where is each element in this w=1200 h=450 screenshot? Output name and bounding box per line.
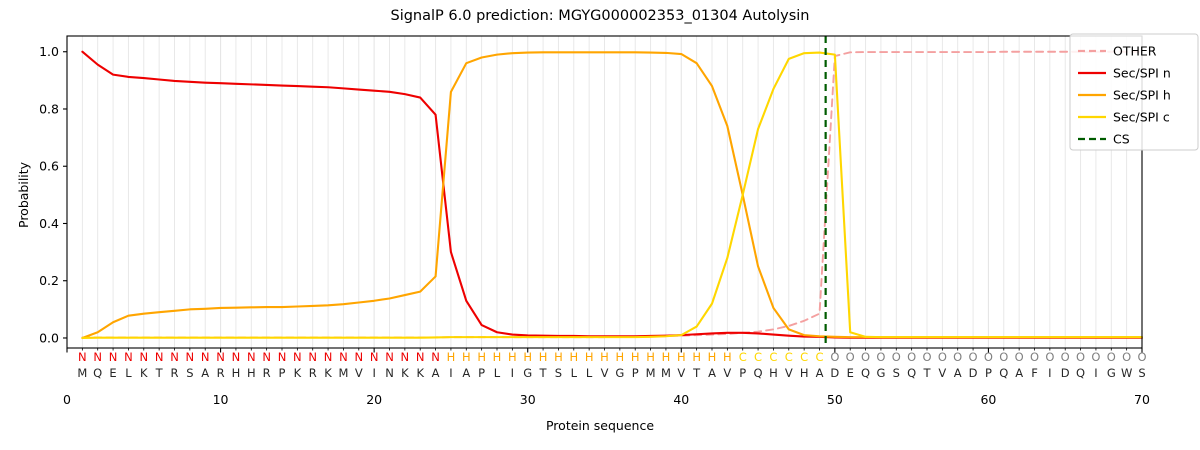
state-letter: N [401,350,410,364]
state-letter: N [354,350,363,364]
state-letter: N [186,350,195,364]
residue-letter: M [661,366,671,380]
series-line-sec-spi-h [82,52,1142,338]
state-letter: H [569,350,578,364]
state-letter: N [232,350,241,364]
state-letter: N [293,350,302,364]
residue-letter: I [1048,366,1051,380]
residue-letter: T [692,366,701,380]
state-letter: O [953,350,962,364]
residue-letter: R [263,366,271,380]
grid-lines [82,36,1142,348]
residue-letter: A [432,366,440,380]
state-letter: O [830,350,839,364]
state-letter: C [800,350,808,364]
state-letter: O [876,350,885,364]
residue-letter: R [171,366,179,380]
state-letter: N [201,350,210,364]
state-letter: N [216,350,225,364]
state-letter: O [846,350,855,364]
state-letter: N [247,350,256,364]
state-letter: H [585,350,594,364]
y-tick-label: 0.6 [39,159,59,174]
residue-letter: E [847,366,854,380]
state-letter: N [139,350,148,364]
residue-letter: D [969,366,978,380]
residue-letter: A [708,366,716,380]
residue-letter: S [893,366,900,380]
state-letter: N [416,350,425,364]
residue-letter: H [232,366,241,380]
residue-letter: R [217,366,225,380]
state-letter: O [1030,350,1039,364]
residue-letter: V [601,366,609,380]
legend-label-sec-spi-n: Sec/SPI n [1113,66,1171,81]
state-letter: N [431,350,440,364]
residue-letter: H [769,366,778,380]
legend-label-cs: CS [1113,132,1130,147]
state-letter: H [447,350,456,364]
residue-letter: A [201,366,209,380]
state-letter: O [1076,350,1085,364]
state-letter: H [677,350,686,364]
signalp-plot-figure: SignalP 6.0 prediction: MGYG000002353_01… [0,0,1200,450]
state-letter: O [1045,350,1054,364]
state-letter: N [278,350,287,364]
series-line-other [82,52,1142,338]
residue-letter: W [1121,366,1132,380]
state-letter: C [785,350,793,364]
x-tick-label: 40 [673,392,689,407]
residue-letter: K [140,366,148,380]
residue-letter: A [462,366,470,380]
state-letter: H [723,350,732,364]
residue-letter: S [186,366,193,380]
residue-letter: Q [1076,366,1085,380]
state-letter: O [1107,350,1116,364]
state-letter: H [600,350,609,364]
y-tick-label: 1.0 [39,44,59,59]
state-letter-row: NNNNNNNNNNNNNNNNNNNNNNNNHHHHHHHHHHHHHHHH… [78,350,1146,364]
series-line-sec-spi-c [82,53,1142,338]
residue-letter: Q [754,366,763,380]
data-series-group [82,52,1142,338]
x-tick-label: 30 [520,392,536,407]
y-tick-label: 0.0 [39,330,59,345]
state-letter: H [539,350,548,364]
state-letter: H [462,350,471,364]
residue-letter: E [109,366,116,380]
state-letter: C [815,350,823,364]
state-letter: H [662,350,671,364]
residue-letter: I [1094,366,1097,380]
residue-letter: G [615,366,624,380]
residue-letter: M [646,366,656,380]
residue-letter: M [338,366,348,380]
state-letter: O [861,350,870,364]
residue-letter: T [539,366,548,380]
residue-letter: S [555,366,562,380]
residue-letter: H [800,366,809,380]
residue-letter: V [355,366,363,380]
state-letter: H [523,350,532,364]
state-letter: H [631,350,640,364]
residue-letter: M [77,366,87,380]
legend-label-other: OTHER [1113,44,1157,59]
state-letter: N [170,350,179,364]
residue-letter: N [385,366,394,380]
legend: OTHERSec/SPI nSec/SPI hSec/SPI cCS [1070,34,1198,150]
state-letter: O [892,350,901,364]
residue-letter: I [511,366,514,380]
residue-letter: Q [93,366,102,380]
state-letter: O [907,350,916,364]
state-letter: H [554,350,563,364]
residue-letter: A [1015,366,1023,380]
state-letter: N [370,350,379,364]
state-letter: H [508,350,517,364]
state-letter: O [1091,350,1100,364]
residue-letter: T [155,366,164,380]
residue-letter: V [938,366,946,380]
residue-letter: D [830,366,839,380]
state-letter: N [339,350,348,364]
residue-letter: G [523,366,532,380]
residue-letter: Q [999,366,1008,380]
residue-letter: K [416,366,424,380]
legend-label-sec-spi-c: Sec/SPI c [1113,110,1170,125]
state-letter: H [646,350,655,364]
state-letter: C [739,350,747,364]
y-tick-label: 0.8 [39,101,59,116]
state-letter: N [124,350,133,364]
state-letter: N [385,350,394,364]
residue-letter: K [324,366,332,380]
state-letter: N [308,350,317,364]
state-letter: N [78,350,87,364]
state-letter: O [1122,350,1131,364]
state-letter: C [769,350,777,364]
y-axis-ticks: 0.00.20.40.60.81.0 [39,44,67,345]
sequence-letter-row: MQELKTRSARHHRPKRKMVINKKAIAPLIGTSLLVGPMMV… [77,366,1145,380]
residue-letter: P [478,366,485,380]
residue-letter: L [125,366,132,380]
residue-letter: Q [861,366,870,380]
x-tick-label: 0 [63,392,71,407]
state-letter: O [969,350,978,364]
state-letter: N [155,350,164,364]
state-letter: H [477,350,486,364]
state-letter: H [692,350,701,364]
plot-canvas: 0.00.20.40.60.81.0010203040506070NNNNNNN… [0,0,1200,450]
state-letter: N [262,350,271,364]
state-letter: N [109,350,118,364]
x-tick-label: 50 [827,392,843,407]
residue-letter: V [723,366,731,380]
state-letter: O [1137,350,1146,364]
residue-letter: K [294,366,302,380]
state-letter: H [616,350,625,364]
residue-letter: L [586,366,593,380]
y-tick-label: 0.2 [39,273,59,288]
state-letter: O [1061,350,1070,364]
residue-letter: V [677,366,685,380]
residue-letter: P [739,366,746,380]
residue-letter: A [954,366,962,380]
residue-letter: K [401,366,409,380]
residue-letter: F [1031,366,1038,380]
state-letter: N [324,350,333,364]
x-tick-label: 10 [213,392,229,407]
series-line-sec-spi-n [82,52,1142,338]
state-letter: N [93,350,102,364]
residue-letter: Q [907,366,916,380]
legend-label-sec-spi-h: Sec/SPI h [1113,88,1171,103]
state-letter: O [984,350,993,364]
residue-letter: P [632,366,639,380]
residue-letter: T [922,366,931,380]
residue-letter: P [279,366,286,380]
residue-letter: S [1138,366,1145,380]
state-letter: C [754,350,762,364]
x-tick-label: 70 [1134,392,1150,407]
state-letter: O [999,350,1008,364]
residue-letter: I [372,366,375,380]
residue-letter: L [571,366,578,380]
residue-letter: R [309,366,317,380]
residue-letter: G [876,366,885,380]
state-letter: O [922,350,931,364]
state-letter: H [493,350,502,364]
residue-letter: G [1107,366,1116,380]
residue-letter: D [1061,366,1070,380]
residue-letter: L [494,366,501,380]
state-letter: O [1015,350,1024,364]
residue-letter: P [985,366,992,380]
residue-letter: A [816,366,824,380]
x-tick-label: 60 [980,392,996,407]
x-tick-label: 20 [366,392,382,407]
residue-letter: V [785,366,793,380]
residue-letter: I [449,366,452,380]
residue-letter: H [247,366,256,380]
state-letter: O [938,350,947,364]
state-letter: H [708,350,717,364]
y-tick-label: 0.4 [39,216,59,231]
